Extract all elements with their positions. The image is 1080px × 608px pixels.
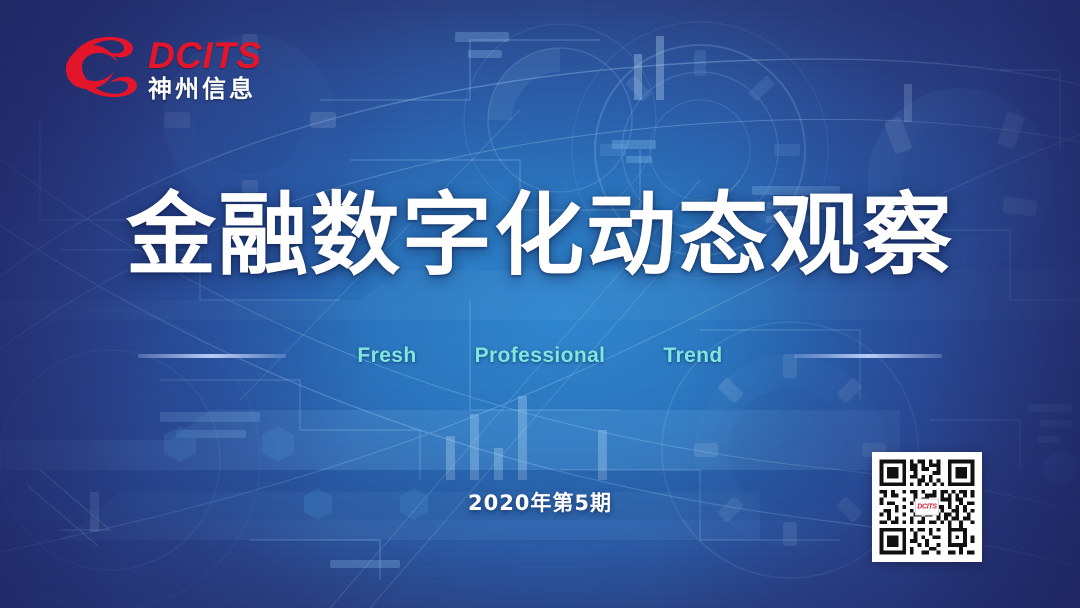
brand-wordmark: DCITS	[148, 37, 262, 75]
poster-canvas: DCITS 神州信息 金融数字化动态观察 Fresh Professional …	[0, 0, 1080, 608]
brand-chinese-name: 神州信息	[148, 76, 262, 104]
tagline-trend: Trend	[634, 344, 751, 368]
tagline-row: Fresh Professional Trend	[0, 340, 1080, 372]
brand-logo-text: DCITS 神州信息	[148, 35, 262, 103]
brand-logo: DCITS 神州信息	[62, 26, 292, 112]
tagline-rule-right	[794, 354, 942, 358]
dcits-swoosh-icon	[62, 31, 140, 107]
tagline-fresh: Fresh	[328, 344, 445, 368]
qr-center-logo-text: DCITS	[917, 504, 937, 511]
page-title: 金融数字化动态观察	[0, 186, 1080, 287]
tagline-professional: Professional	[446, 344, 635, 368]
qr-center-logo: DCITS	[915, 499, 939, 516]
wechat-qr-code[interactable]: DCITS	[872, 452, 982, 562]
tagline-rule-left	[138, 354, 286, 358]
